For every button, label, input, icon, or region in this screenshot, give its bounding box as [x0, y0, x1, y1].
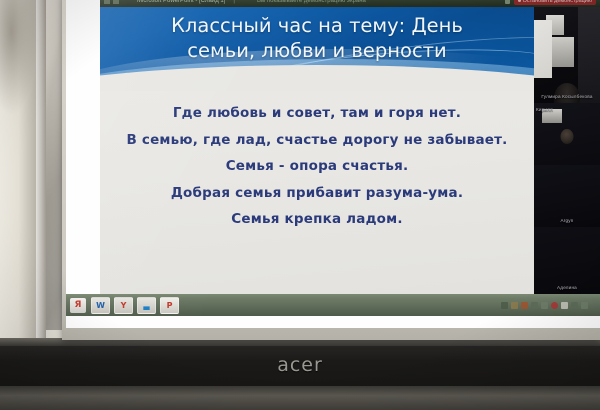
- video-participant-name: Кирилл: [536, 107, 553, 112]
- yandex-taskbar-button[interactable]: Y: [114, 297, 133, 314]
- explorer-taskbar-button[interactable]: ▃: [137, 297, 156, 314]
- slide-body-line-2: В семью, где лад, счастье дорогу не забы…: [116, 132, 518, 150]
- video-participant-name: Argyn: [534, 218, 600, 223]
- video-tile-3[interactable]: Argyn: [534, 165, 600, 227]
- screen-share-toolbar: Microsoft PowerPoint - [Слайд 1] | Вы по…: [100, 0, 600, 7]
- app-icon: [104, 0, 110, 4]
- window-icon: [113, 0, 119, 4]
- toolbar-icon-group: [100, 0, 119, 4]
- toolbar-right-group: Остановить демонстрацию: [505, 0, 600, 5]
- tray-icon-extra[interactable]: [541, 302, 548, 309]
- screen-reflection-panel: [534, 20, 552, 78]
- acer-brand-logo: acer: [0, 354, 600, 376]
- windows-taskbar: Я W Y ▃ P: [66, 294, 600, 316]
- record-dot-icon: [518, 0, 521, 2]
- slide-body-text: Где любовь и совет, там и горя нет. В се…: [100, 105, 534, 238]
- video-participant-name: Аделина: [534, 285, 600, 290]
- slide-title: Классный час на тему: День семьи, любви …: [100, 7, 534, 64]
- app-title: Microsoft PowerPoint - [Слайд 1]: [137, 0, 225, 4]
- slide-body-line-3: Семья - опора счастья.: [116, 158, 518, 176]
- slide-body-line-1: Где любовь и совет, там и горя нет.: [116, 105, 518, 123]
- slide-body-line-4: Добрая семья прибавит разума-ума.: [116, 185, 518, 203]
- tray-icon-recording[interactable]: [551, 302, 558, 309]
- video-background-wall: [578, 7, 600, 103]
- laptop-screen: Microsoft PowerPoint - [Слайд 1] | Вы по…: [66, 0, 600, 328]
- powerpoint-taskbar-button[interactable]: P: [160, 297, 179, 314]
- system-tray: [501, 302, 596, 309]
- start-button[interactable]: Я: [70, 298, 86, 313]
- share-status-text: Вы показываете демонстрацию экрана: [257, 0, 366, 4]
- slide-body-line-5: Семья крепка ладом.: [116, 211, 518, 229]
- slide-title-line-1: Классный час на тему: День: [128, 14, 506, 39]
- tray-icon-battery[interactable]: [581, 302, 588, 309]
- slide-title-line-2: семьи, любви и верности: [128, 39, 506, 64]
- powerpoint-slide: Классный час на тему: День семьи, любви …: [100, 7, 534, 294]
- video-person-silhouette: [554, 83, 580, 103]
- ceiling-lamp: [0, 0, 38, 116]
- tray-icon-network[interactable]: [501, 302, 508, 309]
- slide-title-banner: Классный час на тему: День семьи, любви …: [100, 7, 534, 91]
- tray-icon-chevron[interactable]: [531, 302, 538, 309]
- laptop-keyboard-deck: [0, 386, 600, 410]
- video-person-head: [561, 129, 574, 144]
- photo-of-laptop-screen: acer Microsoft PowerPoint - [Слайд 1] | …: [0, 0, 600, 410]
- toolbar-separator: |: [233, 0, 235, 4]
- video-tile-4[interactable]: Аделина: [534, 227, 600, 294]
- tray-icon-volume[interactable]: [561, 302, 568, 309]
- video-tile-2[interactable]: Кирилл: [534, 103, 600, 165]
- banner-wave-bottom: [100, 65, 534, 91]
- video-participant-name: Гулмира Косылбекова: [534, 94, 600, 99]
- tray-icon-warning[interactable]: [521, 302, 528, 309]
- stop-share-label: Остановить демонстрацию: [523, 0, 592, 4]
- participants-icon[interactable]: [505, 0, 510, 4]
- word-taskbar-button[interactable]: W: [91, 297, 110, 314]
- tray-icon-wifi[interactable]: [571, 302, 578, 309]
- stop-share-button[interactable]: Остановить демонстрацию: [514, 0, 596, 5]
- tray-icon-app[interactable]: [511, 302, 518, 309]
